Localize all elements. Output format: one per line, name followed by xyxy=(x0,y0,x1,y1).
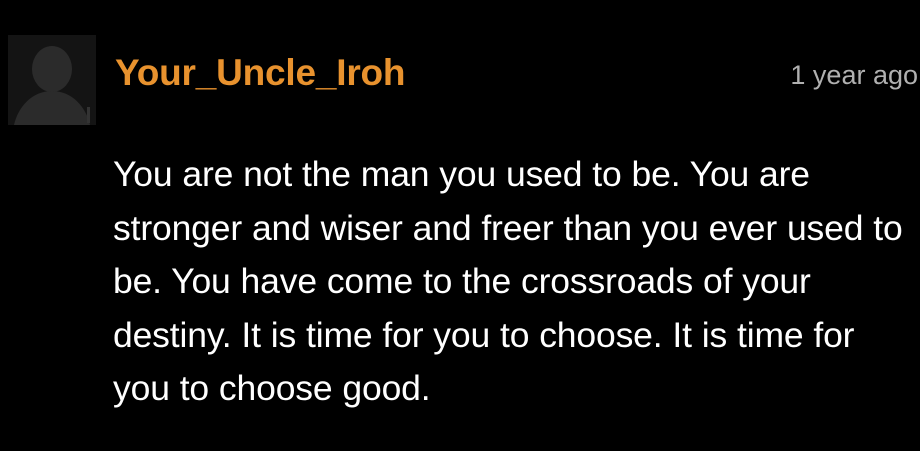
default-user-silhouette-avatar-icon xyxy=(8,35,96,125)
comment-body-text: You are not the man you used to be. You … xyxy=(113,148,903,416)
avatar[interactable] xyxy=(8,35,96,125)
comment-author-name[interactable]: Your_Uncle_Iroh xyxy=(115,51,405,95)
comment-header: Your_Uncle_Iroh 1 year ago xyxy=(0,0,920,130)
comment-body: You are not the man you used to be. You … xyxy=(113,148,903,416)
comment-timestamp: 1 year ago xyxy=(790,59,918,91)
comment-container: Your_Uncle_Iroh 1 year ago You are not t… xyxy=(0,0,920,451)
